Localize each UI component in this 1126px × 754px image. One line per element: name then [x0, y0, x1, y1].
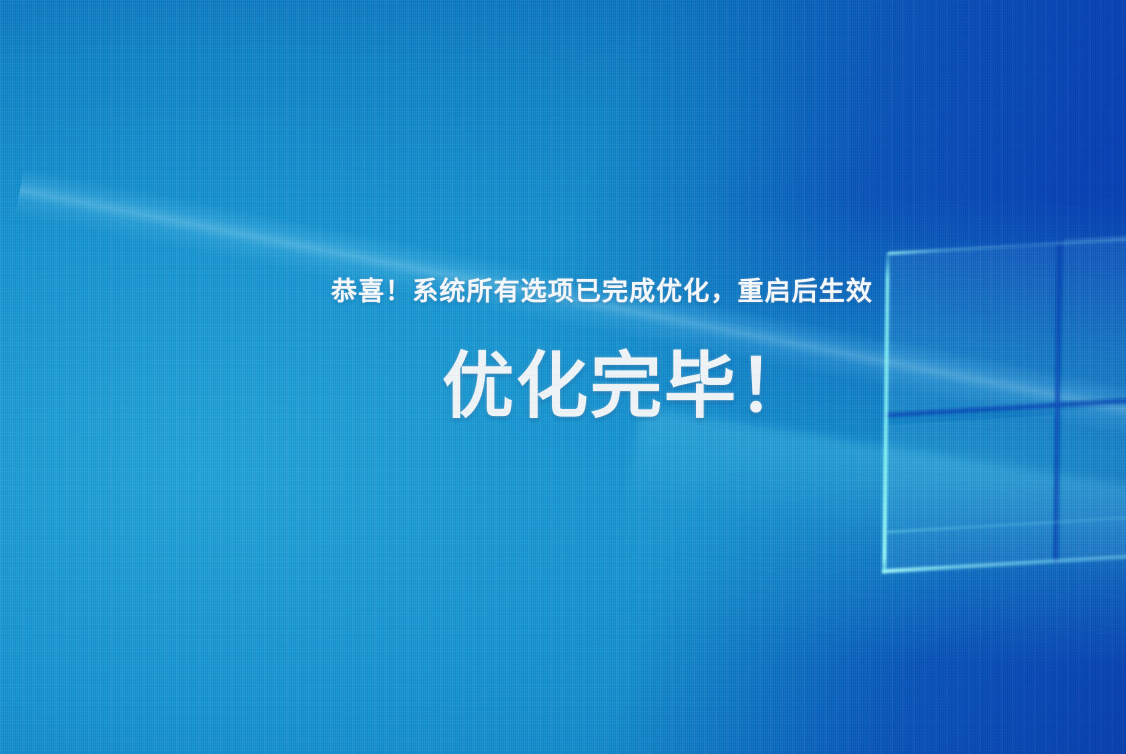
desktop-screen: 恭喜！系统所有选项已完成优化，重启后生效 优化完毕！: [0, 0, 1126, 754]
wallpaper-dark-lower-right: [0, 0, 1126, 754]
